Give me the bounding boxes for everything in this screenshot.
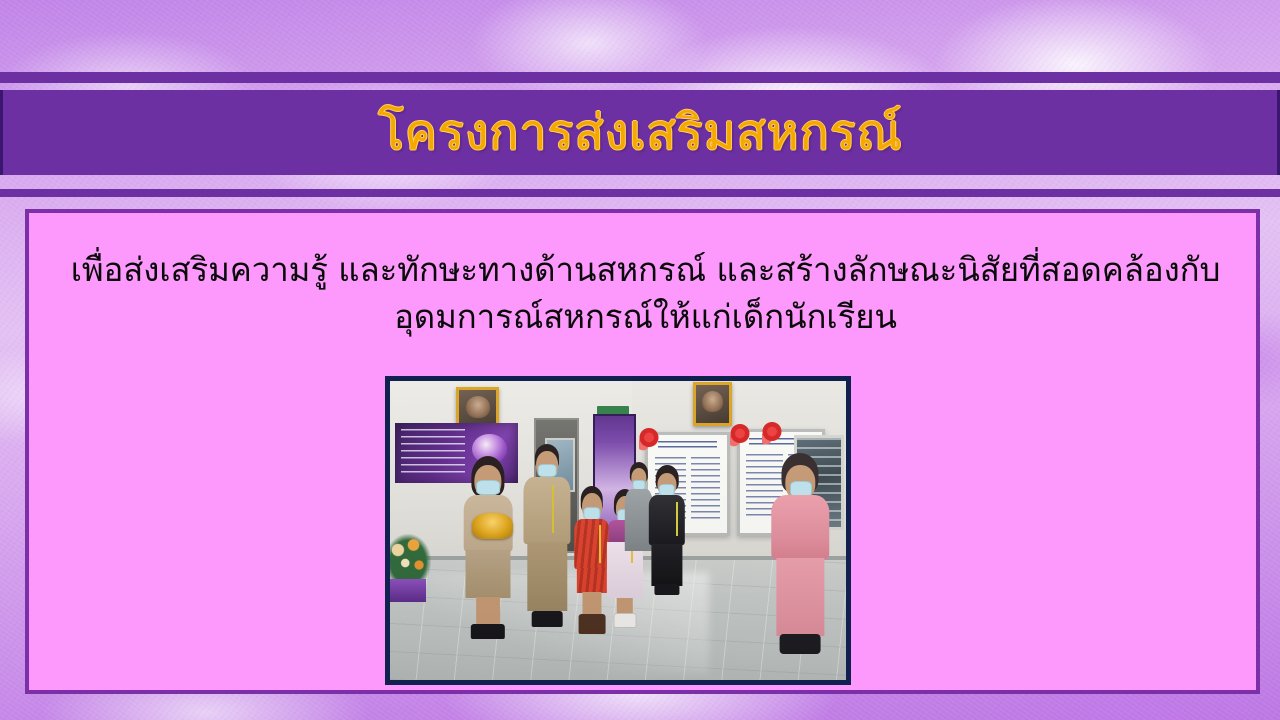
content-panel: เพื่อส่งเสริมความรู้ และทักษะทางด้านสหกร… [25,209,1260,694]
person-in-pink-uniform [768,453,832,656]
slide-root: โครงการส่งเสริมสหกรณ์ เพื่อส่งเสริมความร… [0,0,1280,720]
person-female-officer [458,456,517,641]
plant-pot [390,579,426,603]
potted-plant [385,536,431,602]
whiteboard-heading-lines [658,441,718,451]
plant-foliage [385,534,431,584]
person-security-officer [645,465,688,597]
flower-garland-icon [639,424,660,451]
divider-rule-top [0,72,1280,83]
whiteboard-column [691,457,721,520]
framed-portrait-icon [693,382,732,425]
banner-text-lines [401,429,465,473]
title-bar: โครงการส่งเสริมสหกรณ์ [0,90,1280,175]
flower-garland-icon [730,420,751,447]
flower-garland-icon [762,418,783,445]
divider-rule-bottom [0,189,1280,197]
ceremonial-tray-icon [472,513,513,540]
page-title: โครงการส่งเสริมสหกรณ์ [378,108,903,157]
person-male-officer [520,444,575,629]
ceremony-photo [385,376,851,685]
body-text: เพื่อส่งเสริมความรู้ และทักษะทางด้านสหกร… [43,247,1248,341]
